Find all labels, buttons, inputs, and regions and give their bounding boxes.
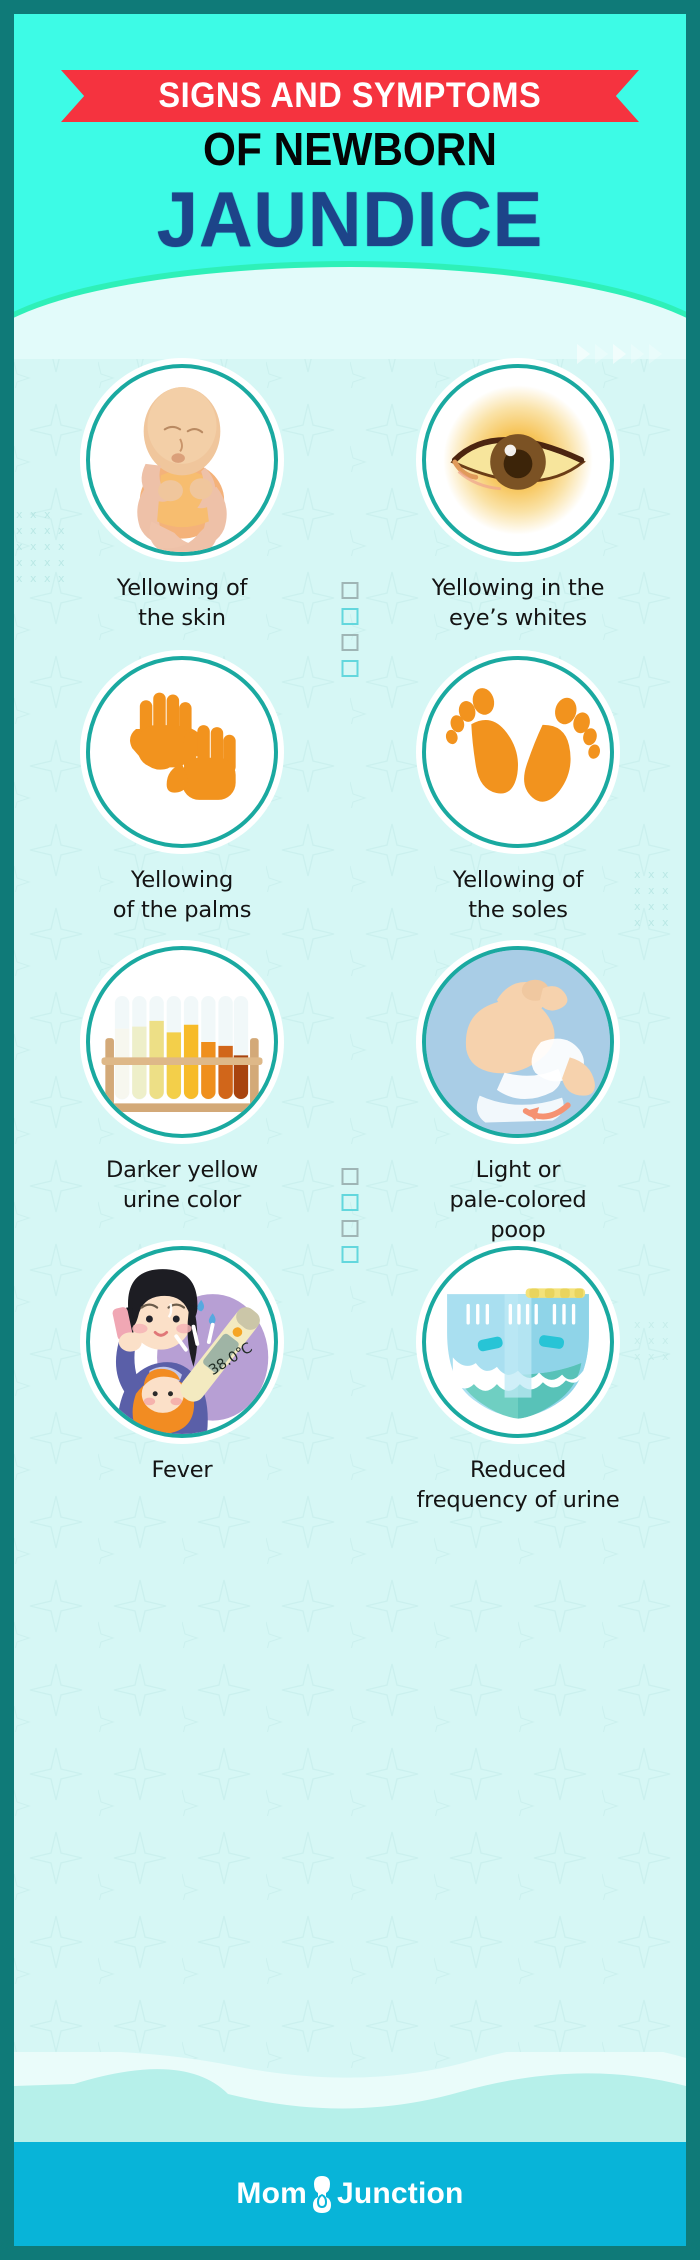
symptom-caption: Darker yellow urine color xyxy=(106,1156,258,1216)
caption-line: Yellowing in the xyxy=(432,575,605,601)
two-hands-icon xyxy=(86,656,278,848)
checkbox-icon xyxy=(342,608,359,625)
symptom-caption: Fever xyxy=(152,1456,213,1486)
symptom-row-2: Yellowing of the palms xyxy=(14,656,686,946)
caption-line: poop xyxy=(490,1217,545,1243)
infographic-poster: xxx xxxx xxxx xxxx xxxx xxx xxx xxx xxx … xyxy=(14,14,686,2246)
title-line-2: OF NEWBORN xyxy=(41,122,659,176)
footer-bar: Mom Junction xyxy=(14,2142,686,2246)
two-feet-icon xyxy=(422,656,614,848)
checkbox-icon xyxy=(342,634,359,651)
caption-line: Yellowing of xyxy=(453,867,584,893)
caption-line: eye’s whites xyxy=(449,605,587,631)
decor-checkbox-column xyxy=(342,582,359,677)
caption-line: urine color xyxy=(123,1187,241,1213)
symptom-caption: Yellowing of the palms xyxy=(113,866,251,926)
caption-line: the soles xyxy=(468,897,568,923)
symptom-card-dark-urine[interactable]: Darker yellow urine color xyxy=(14,946,350,1246)
logo-text-left: Mom xyxy=(236,2177,307,2211)
symptom-caption: Yellowing of the skin xyxy=(117,574,248,634)
caption-line: Darker yellow xyxy=(106,1157,258,1183)
checkbox-icon xyxy=(342,1194,359,1211)
symptom-card-yellowing-skin[interactable]: Yellowing of the skin xyxy=(14,364,350,656)
symptom-card-yellowing-soles[interactable]: Yellowing of the soles xyxy=(350,656,686,946)
symptom-card-pale-poop[interactable]: Light or pale-colored poop xyxy=(350,946,686,1246)
diaper-icon xyxy=(422,1246,614,1438)
symptom-row-4: 38.0℃ Fever xyxy=(14,1246,686,1546)
diaper-change-icon xyxy=(422,946,614,1138)
caption-line: of the palms xyxy=(113,897,251,923)
mother-baby-thermometer-icon: 38.0℃ xyxy=(86,1246,278,1438)
symptom-row-3: Darker yellow urine color xyxy=(14,946,686,1246)
logo-text-right: Junction xyxy=(337,2177,464,2211)
ribbon-label: SIGNS AND SYMPTOMS xyxy=(159,76,542,116)
caption-line: Yellowing xyxy=(131,867,233,893)
jaundiced-eye-icon xyxy=(422,364,614,556)
symptom-caption: Reduced frequency of urine xyxy=(416,1456,619,1516)
mother-and-baby-logo-icon xyxy=(309,2174,335,2214)
checkbox-icon xyxy=(342,582,359,599)
checkbox-icon xyxy=(342,1246,359,1263)
symptom-caption: Yellowing in the eye’s whites xyxy=(432,574,605,634)
symptom-caption: Light or pale-colored poop xyxy=(450,1156,587,1246)
caption-line: Reduced xyxy=(470,1457,566,1483)
caption-line: Yellowing of xyxy=(117,575,248,601)
decor-arrow-row xyxy=(577,344,662,364)
triangle-right-icon xyxy=(649,344,662,364)
triangle-right-icon xyxy=(613,344,626,364)
caption-line: Fever xyxy=(152,1457,213,1483)
title-ribbon: SIGNS AND SYMPTOMS xyxy=(61,70,639,122)
caption-line: pale-colored xyxy=(450,1187,587,1213)
momjunction-logo[interactable]: Mom Junction xyxy=(236,2174,463,2214)
checkbox-icon xyxy=(342,1220,359,1237)
symptom-card-fever[interactable]: 38.0℃ Fever xyxy=(14,1246,350,1546)
triangle-right-icon xyxy=(631,344,644,364)
caption-line: Light or xyxy=(476,1157,561,1183)
footer-wave xyxy=(14,2052,686,2142)
symptom-card-yellowing-palms[interactable]: Yellowing of the palms xyxy=(14,656,350,946)
checkbox-icon xyxy=(342,660,359,677)
newborn-baby-icon xyxy=(86,364,278,556)
triangle-right-icon xyxy=(577,344,590,364)
title-line-3: JAUNDICE xyxy=(31,174,669,265)
symptom-caption: Yellowing of the soles xyxy=(453,866,584,926)
triangle-right-icon xyxy=(595,344,608,364)
symptom-row-1: Yellowing of the skin xyxy=(14,364,686,656)
caption-line: frequency of urine xyxy=(416,1487,619,1513)
symptoms-grid: Yellowing of the skin xyxy=(14,364,686,1546)
urine-color-test-tubes-icon xyxy=(86,946,278,1138)
symptom-card-yellowing-eye-whites[interactable]: Yellowing in the eye’s whites xyxy=(350,364,686,656)
checkbox-icon xyxy=(342,1168,359,1185)
symptom-card-reduced-urine[interactable]: Reduced frequency of urine xyxy=(350,1246,686,1546)
caption-line: the skin xyxy=(138,605,226,631)
header: SIGNS AND SYMPTOMS OF NEWBORN JAUNDICE xyxy=(14,14,686,319)
decor-checkbox-column xyxy=(342,1168,359,1263)
